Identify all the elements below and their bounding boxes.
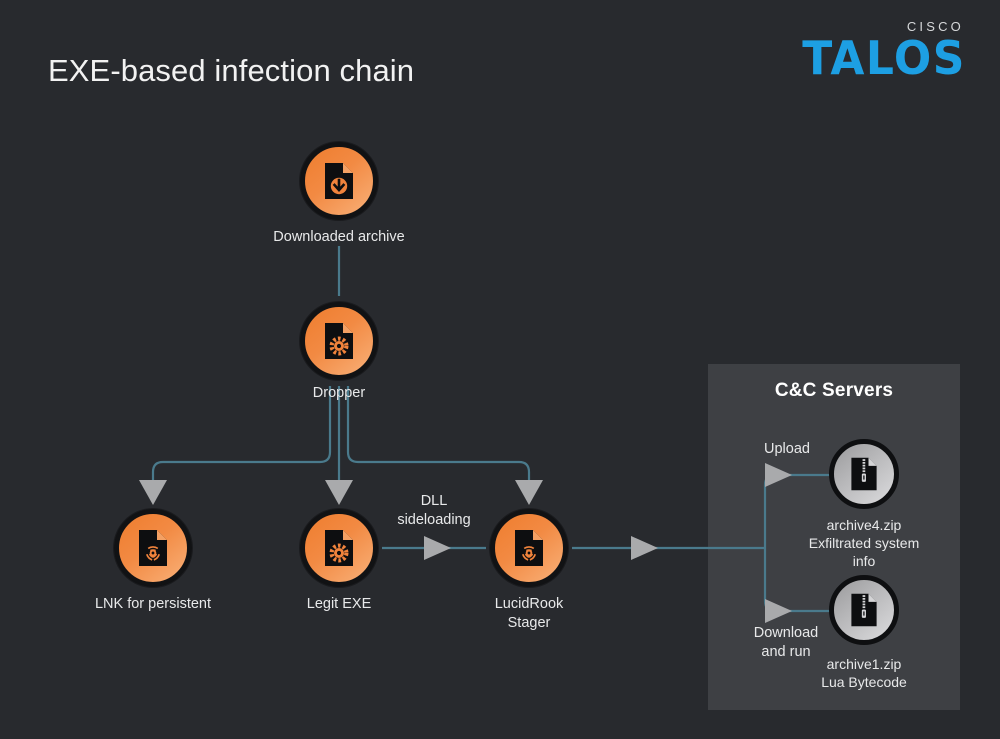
cisco-talos-logo: CISCO TALOS <box>802 20 966 80</box>
node-icon-circle <box>829 439 899 509</box>
arrowhead-to-lnk <box>139 480 167 505</box>
edge-label-dll-sideloading: DLL sideloading <box>397 492 470 529</box>
label-archive4-zip: archive4.zip Exfiltrated system info <box>796 516 932 570</box>
label-dropper: Dropper <box>313 384 365 403</box>
label-legit-exe: Legit EXE <box>307 595 372 614</box>
arrowhead-to-stager <box>515 480 543 505</box>
node-legit-exe[interactable] <box>339 548 340 549</box>
node-archive4-zip[interactable] <box>864 474 865 475</box>
node-icon-circle <box>829 575 899 645</box>
document-biohazard-icon <box>509 528 549 568</box>
node-lnk-persistence[interactable] <box>153 548 154 549</box>
node-icon-circle <box>300 302 378 380</box>
node-dropper[interactable] <box>339 341 340 342</box>
edge-label-download-and-run: Download and run <box>754 624 819 661</box>
label-lucidrook-stager: LucidRook Stager <box>495 595 564 632</box>
document-gear-icon <box>319 528 359 568</box>
node-icon-circle <box>490 509 568 587</box>
label-archive1-zip: archive1.zip Lua Bytecode <box>821 655 907 691</box>
arrowhead-to-cc <box>631 536 658 560</box>
node-downloaded-archive[interactable] <box>339 181 340 182</box>
label-lnk-persistence: LNK for persistent <box>95 595 211 614</box>
label-downloaded-archive: Downloaded archive <box>273 228 404 247</box>
document-biohazard-icon <box>133 528 173 568</box>
talos-wordmark: TALOS <box>802 36 966 83</box>
node-icon-circle <box>300 509 378 587</box>
node-lucidrook-stager[interactable] <box>529 548 530 549</box>
node-icon-circle <box>300 142 378 220</box>
document-download-icon <box>319 161 359 201</box>
zip-archive-icon <box>846 456 882 492</box>
node-archive1-zip[interactable] <box>864 610 865 611</box>
document-gear-icon <box>319 321 359 361</box>
zip-archive-icon <box>846 592 882 628</box>
edge-label-upload: Upload <box>764 440 810 459</box>
node-icon-circle <box>114 509 192 587</box>
page-title: EXE-based infection chain <box>48 53 414 89</box>
arrowhead-to-legit-exe <box>325 480 353 505</box>
cc-servers-title: C&C Servers <box>708 380 960 402</box>
arrowhead-dll-sideloading <box>424 536 451 560</box>
